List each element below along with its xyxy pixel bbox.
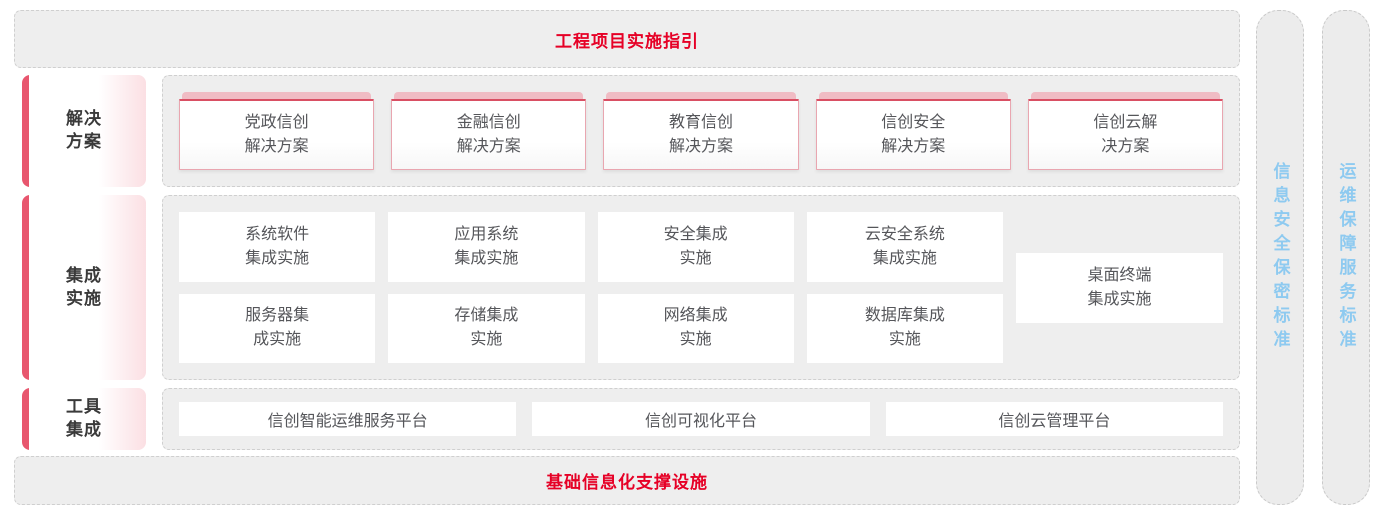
integration-card[interactable]: 系统软件 集成实施 bbox=[179, 212, 375, 282]
card-label: 教育信创 解决方案 bbox=[669, 111, 733, 159]
row-label-solution-text: 解决 方案 bbox=[66, 108, 102, 154]
top-banner-label: 工程项目实施指引 bbox=[555, 27, 699, 52]
card-label: 党政信创 解决方案 bbox=[245, 111, 309, 159]
main-column: 工程项目实施指引 解决 方案 党政信创 解决方案 bbox=[14, 10, 1240, 505]
card-label: 云安全系统 集成实施 bbox=[865, 223, 945, 271]
top-banner: 工程项目实施指引 bbox=[14, 10, 1240, 68]
tool-card-list: 信创智能运维服务平台 信创可视化平台 信创云管理平台 bbox=[179, 402, 1223, 436]
bottom-banner: 基础信息化支撑设施 bbox=[14, 456, 1240, 505]
card-label: 存储集成 实施 bbox=[454, 304, 518, 352]
row-panel-tools: 信创智能运维服务平台 信创可视化平台 信创云管理平台 bbox=[162, 388, 1240, 450]
row-panel-solution: 党政信创 解决方案 金融信创 解决方案 教育信创 解决方案 bbox=[162, 75, 1240, 187]
card-label: 系统软件 集成实施 bbox=[245, 223, 309, 271]
integration-card-grid: 系统软件 集成实施 应用系统 集成实施 安全集成 实施 云安全系统 集成实施 服 bbox=[179, 212, 1003, 363]
row-tools: 工具 集成 信创智能运维服务平台 信创可视化平台 信创云管理平台 bbox=[14, 388, 1240, 450]
card-label: 桌面终端 集成实施 bbox=[1087, 264, 1151, 312]
integration-card[interactable]: 数据库集成 实施 bbox=[807, 294, 1003, 364]
solution-card-list: 党政信创 解决方案 金融信创 解决方案 教育信创 解决方案 bbox=[179, 92, 1223, 170]
pillar-security-standard: 信息安全保密标准 bbox=[1256, 10, 1304, 505]
pillar-ops-label: 运维保障服务标准 bbox=[1338, 162, 1355, 354]
solution-card[interactable]: 教育信创 解决方案 bbox=[603, 92, 798, 170]
tool-card[interactable]: 信创可视化平台 bbox=[532, 402, 869, 436]
solution-card[interactable]: 金融信创 解决方案 bbox=[391, 92, 586, 170]
card-label: 数据库集成 实施 bbox=[865, 304, 945, 352]
row-label-integration-text: 集成 实施 bbox=[66, 265, 102, 311]
integration-card[interactable]: 存储集成 实施 bbox=[388, 294, 584, 364]
card-label: 服务器集 成实施 bbox=[245, 304, 309, 352]
card-label: 网络集成 实施 bbox=[664, 304, 728, 352]
integration-side-area: 桌面终端 集成实施 bbox=[1016, 212, 1223, 363]
row-integration: 集成 实施 系统软件 集成实施 应用系统 集成实施 安全集成 实施 bbox=[14, 195, 1240, 380]
integration-card[interactable]: 应用系统 集成实施 bbox=[388, 212, 584, 282]
solution-card[interactable]: 党政信创 解决方案 bbox=[179, 92, 374, 170]
card-body: 党政信创 解决方案 bbox=[179, 99, 374, 170]
card-label: 信创智能运维服务平台 bbox=[268, 407, 428, 431]
card-body: 信创安全 解决方案 bbox=[816, 99, 1011, 170]
card-label: 信创可视化平台 bbox=[645, 407, 757, 431]
integration-card[interactable]: 服务器集 成实施 bbox=[179, 294, 375, 364]
integration-card[interactable]: 安全集成 实施 bbox=[598, 212, 794, 282]
card-label: 应用系统 集成实施 bbox=[454, 223, 518, 271]
solution-card[interactable]: 信创云解 决方案 bbox=[1028, 92, 1223, 170]
pillar-ops-standard: 运维保障服务标准 bbox=[1322, 10, 1370, 505]
solution-card[interactable]: 信创安全 解决方案 bbox=[816, 92, 1011, 170]
integration-card-desktop-terminal[interactable]: 桌面终端 集成实施 bbox=[1016, 253, 1223, 323]
pillar-security-label: 信息安全保密标准 bbox=[1272, 162, 1289, 354]
card-label: 信创云管理平台 bbox=[998, 407, 1110, 431]
row-label-tools-text: 工具 集成 bbox=[66, 396, 102, 442]
integration-card-area: 系统软件 集成实施 应用系统 集成实施 安全集成 实施 云安全系统 集成实施 服 bbox=[179, 212, 1223, 363]
card-body: 信创云解 决方案 bbox=[1028, 99, 1223, 170]
tool-card[interactable]: 信创云管理平台 bbox=[886, 402, 1223, 436]
architecture-diagram: 工程项目实施指引 解决 方案 党政信创 解决方案 bbox=[0, 0, 1390, 515]
row-solution: 解决 方案 党政信创 解决方案 金融信创 解决方案 bbox=[14, 75, 1240, 187]
card-body: 教育信创 解决方案 bbox=[603, 99, 798, 170]
row-label-tools: 工具 集成 bbox=[22, 388, 146, 450]
card-label: 金融信创 解决方案 bbox=[457, 111, 521, 159]
card-body: 金融信创 解决方案 bbox=[391, 99, 586, 170]
card-label: 信创安全 解决方案 bbox=[881, 111, 945, 159]
card-label: 信创云解 决方案 bbox=[1093, 111, 1157, 159]
tool-card[interactable]: 信创智能运维服务平台 bbox=[179, 402, 516, 436]
card-label: 安全集成 实施 bbox=[664, 223, 728, 271]
row-label-solution: 解决 方案 bbox=[22, 75, 146, 187]
row-panel-integration: 系统软件 集成实施 应用系统 集成实施 安全集成 实施 云安全系统 集成实施 服 bbox=[162, 195, 1240, 380]
row-label-integration: 集成 实施 bbox=[22, 195, 146, 380]
integration-card[interactable]: 云安全系统 集成实施 bbox=[807, 212, 1003, 282]
bottom-banner-label: 基础信息化支撑设施 bbox=[546, 468, 708, 493]
integration-card[interactable]: 网络集成 实施 bbox=[598, 294, 794, 364]
